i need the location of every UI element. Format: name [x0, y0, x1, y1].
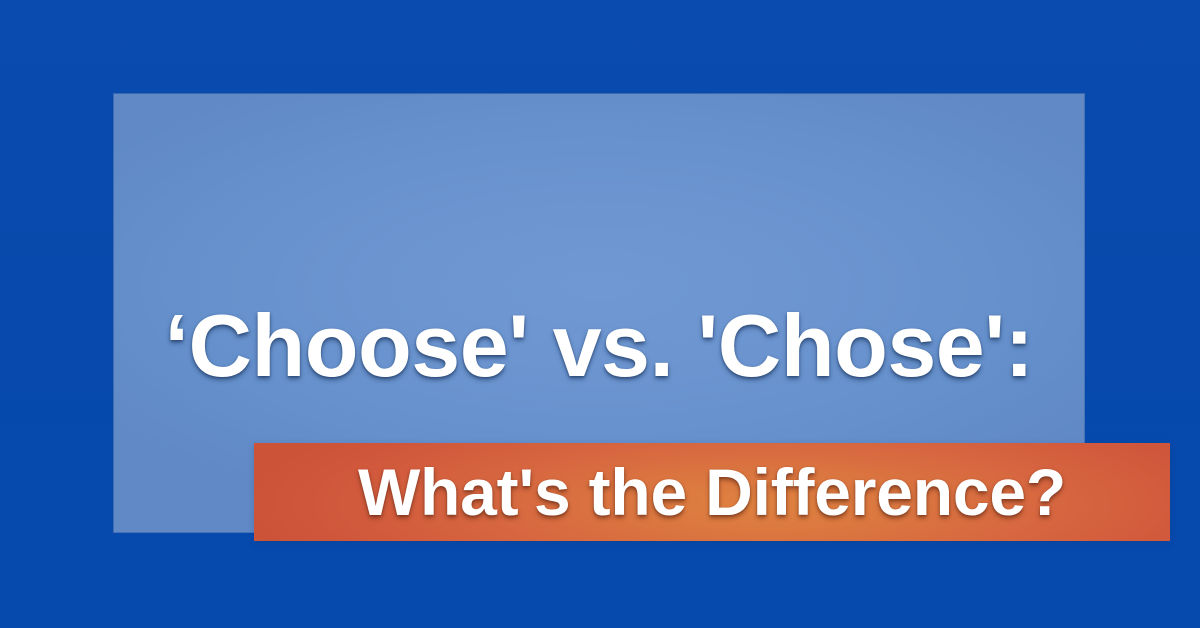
inner-panel: ‘Choose' vs. 'Chose': What's the Differe… — [113, 93, 1085, 533]
banner: ‘Choose' vs. 'Chose': What's the Differe… — [0, 0, 1200, 628]
page-subtitle: What's the Difference? — [254, 443, 1170, 541]
page-title: ‘Choose' vs. 'Chose': — [113, 292, 1085, 400]
subtitle-band: What's the Difference? — [254, 443, 1170, 541]
